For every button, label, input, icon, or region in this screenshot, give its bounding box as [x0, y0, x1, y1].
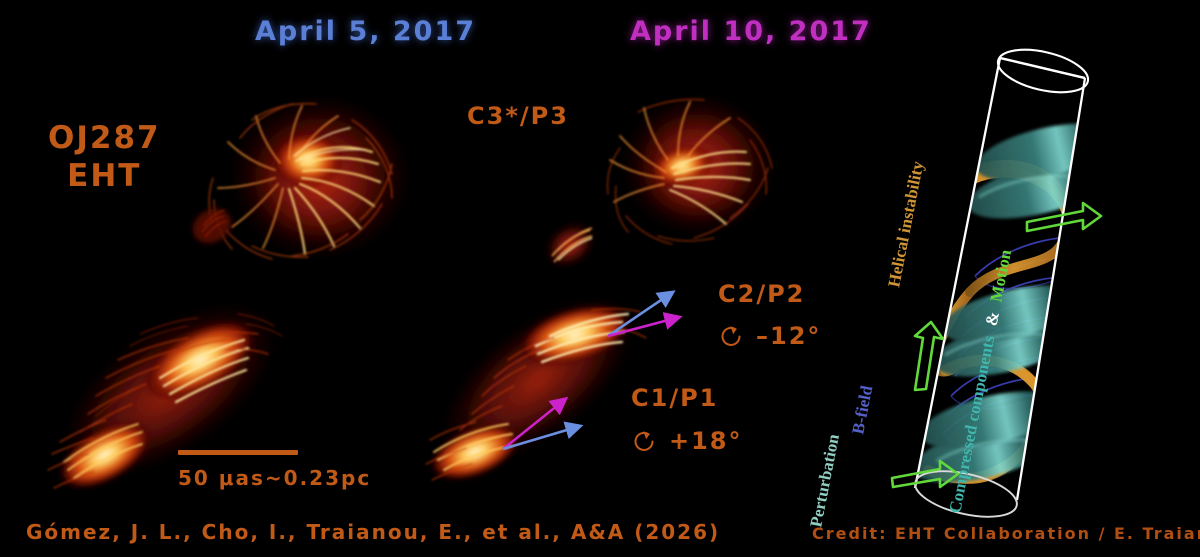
- april10-core-blob: [608, 93, 777, 244]
- citation-text: Gómez, J. L., Cho, I., Traianou, E., et …: [26, 520, 720, 544]
- component-label-c1p1: C1/P1: [631, 384, 718, 412]
- scale-bar: [178, 450, 298, 455]
- label-helical-instability: Helical instability: [884, 159, 927, 289]
- april5-faint-component: [187, 202, 238, 250]
- april5-jet-knots: [30, 266, 311, 490]
- motion-arrow-middle: [915, 322, 943, 390]
- april10-direction-arrow: [503, 401, 563, 449]
- scale-bar-label: 50 μas~0.23pc: [178, 466, 298, 490]
- direction-arrows-c1p1: [495, 385, 625, 465]
- april10-detached-component: [535, 212, 605, 279]
- compressed-component-discs: [907, 112, 1121, 493]
- label-b-field: B-field: [848, 383, 876, 435]
- component-label-c2p2: C2/P2: [718, 280, 805, 308]
- april5-core-blob: [209, 94, 412, 260]
- epoch-label-april5: April 5, 2017: [255, 16, 476, 47]
- label-perturbation: Perturbation: [806, 432, 843, 529]
- april5-direction-arrow: [503, 427, 577, 449]
- figure-canvas: April 5, 2017 April 10, 2017 OJ287 EHT C…: [0, 0, 1200, 557]
- component-label-c3p3: C3*/P3: [467, 102, 569, 130]
- rotation-angle-c1p1: +18°: [669, 427, 743, 455]
- source-name-label: OJ287 EHT: [48, 120, 161, 196]
- source-name-line1: OJ287: [48, 120, 161, 158]
- source-name-line2: EHT: [48, 158, 161, 196]
- label-ampersand: &: [982, 310, 1003, 328]
- rotation-value-c1p1: +18°: [632, 427, 743, 455]
- april10-direction-arrow: [608, 318, 676, 336]
- jet-model-diagram: Helical instability B-field Perturbation…: [795, 30, 1200, 530]
- credit-text: Credit: EHT Collaboration / E. Traianou: [812, 524, 1200, 543]
- rotation-arrow-icon: [632, 428, 658, 454]
- direction-arrows-c2p2: [600, 278, 730, 353]
- april5-direction-arrow: [608, 294, 670, 336]
